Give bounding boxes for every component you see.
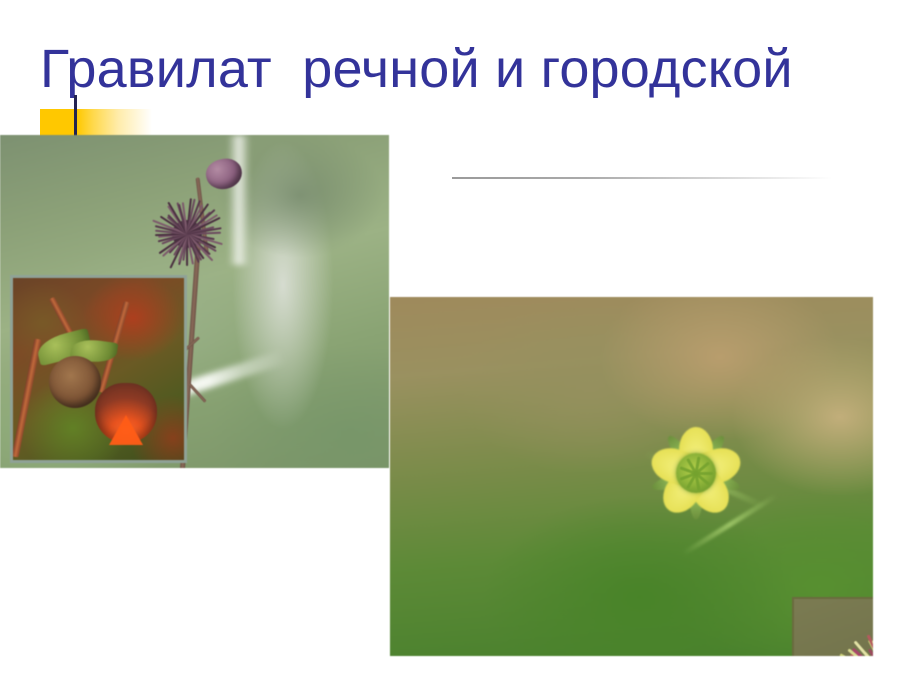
inset-stem (12, 338, 42, 457)
presentation-slide: Гравилат речной и городской (0, 0, 910, 683)
title-decoration (40, 109, 152, 136)
seed-head (150, 201, 224, 267)
yellow-accent-fade (77, 109, 152, 136)
spiky-seed-head (832, 623, 874, 656)
inset-seed-bud (49, 356, 101, 408)
inset-orange-flower (95, 383, 157, 443)
navy-tick-mark-icon (74, 95, 77, 138)
right-photo-geum-urbanum (390, 297, 873, 656)
right-top-inset-seed-head (792, 597, 873, 656)
yellow-accent-block-icon (40, 109, 75, 136)
page-title: Гравилат речной и городской (40, 36, 870, 106)
left-photo-geum-rivale (0, 135, 389, 468)
left-inset-photo-geum-rivale-flower (10, 275, 187, 463)
yellow-flower-geum-urbanum (638, 415, 754, 531)
title-underline-rule (452, 177, 832, 179)
background-pale-stem (228, 135, 250, 265)
